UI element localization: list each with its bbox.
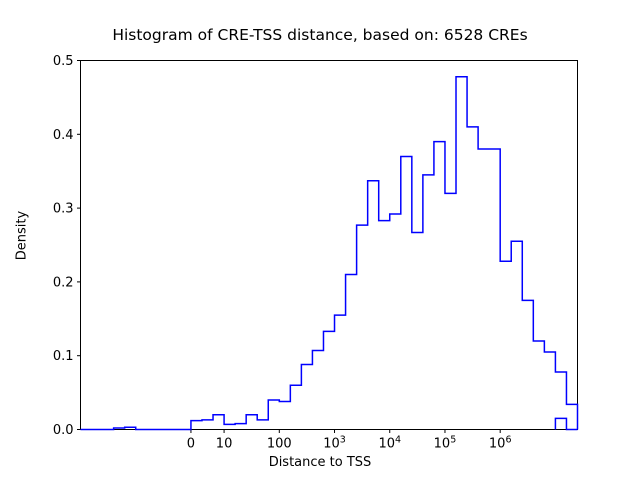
y-tick-label: 0.4 — [53, 128, 74, 143]
plot-area: 0.00.10.20.30.40.5 010100103104105106 — [0, 0, 640, 480]
x-axis-ticks: 010100103104105106 — [187, 430, 512, 452]
x-tick-label: 103 — [323, 435, 346, 452]
x-tick-label: 106 — [489, 435, 512, 452]
x-tick-label: 104 — [378, 435, 401, 452]
x-tick-label: 105 — [434, 435, 457, 452]
plot-frame — [81, 61, 578, 430]
histogram-figure: Histogram of CRE-TSS distance, based on:… — [0, 0, 640, 480]
y-tick-label: 0.1 — [53, 349, 74, 364]
x-axis-label: Distance to TSS — [0, 455, 640, 470]
y-axis-label: Density — [15, 176, 30, 296]
y-tick-label: 0.2 — [53, 275, 74, 290]
y-tick-label: 0.5 — [53, 54, 74, 69]
y-tick-label: 0.3 — [53, 202, 74, 217]
y-axis-ticks: 0.00.10.20.30.40.5 — [53, 54, 81, 438]
x-tick-label: 100 — [267, 437, 292, 452]
x-tick-label: 0 — [187, 437, 195, 452]
x-tick-label: 10 — [216, 437, 233, 452]
y-tick-label: 0.0 — [53, 423, 74, 438]
